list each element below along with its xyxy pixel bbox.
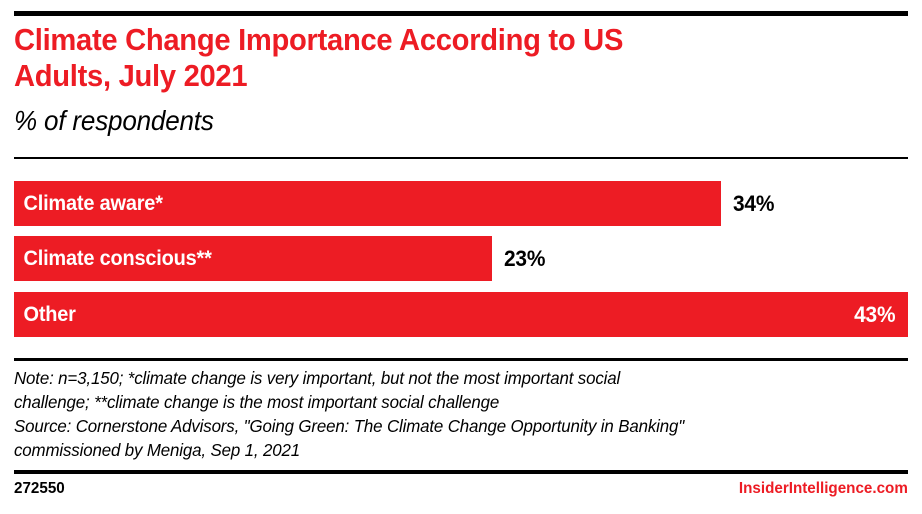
note-line-1: Note: n=3,150; *climate change is very i… xyxy=(14,366,877,390)
top-divider xyxy=(14,11,908,16)
page-title-line-2: Adults, July 2021 xyxy=(14,58,247,93)
page-title-line-1: Climate Change Importance According to U… xyxy=(14,22,623,57)
note-line-2: challenge; **climate change is the most … xyxy=(14,390,877,414)
footer: 272550 InsiderIntelligence.com xyxy=(14,480,908,504)
bar-label: Climate aware* xyxy=(14,192,163,216)
chart-id: 272550 xyxy=(14,480,65,498)
bar-chart: Climate aware* 34% Climate conscious** 2… xyxy=(0,175,922,350)
note-line-4: commissioned by Meniga, Sep 1, 2021 xyxy=(14,438,877,462)
bar-climate-aware[interactable]: Climate aware* xyxy=(14,181,721,226)
brand-link[interactable]: InsiderIntelligence.com xyxy=(739,480,908,498)
bar-value: 34% xyxy=(733,181,774,226)
bar-value: 43% xyxy=(854,292,895,337)
bar-row: Climate conscious** 23% xyxy=(14,236,908,281)
bar-other[interactable]: Other 43% xyxy=(14,292,908,337)
chart-canvas: Climate Change Importance According to U… xyxy=(0,0,922,514)
header-divider xyxy=(14,157,908,159)
notes-divider xyxy=(14,358,908,361)
bar-climate-conscious[interactable]: Climate conscious** xyxy=(14,236,492,281)
page-title: Climate Change Importance According to U… xyxy=(14,22,794,94)
bar-row: Other 43% xyxy=(14,292,908,337)
bar-label: Other xyxy=(14,303,76,327)
page-subtitle: % of respondents xyxy=(14,104,214,138)
footer-divider xyxy=(14,470,908,474)
bar-value: 23% xyxy=(504,236,545,281)
note-line-3: Source: Cornerstone Advisors, "Going Gre… xyxy=(14,414,877,438)
chart-notes: Note: n=3,150; *climate change is very i… xyxy=(14,366,877,462)
bar-label: Climate conscious** xyxy=(14,247,212,271)
bar-row: Climate aware* 34% xyxy=(14,181,908,226)
